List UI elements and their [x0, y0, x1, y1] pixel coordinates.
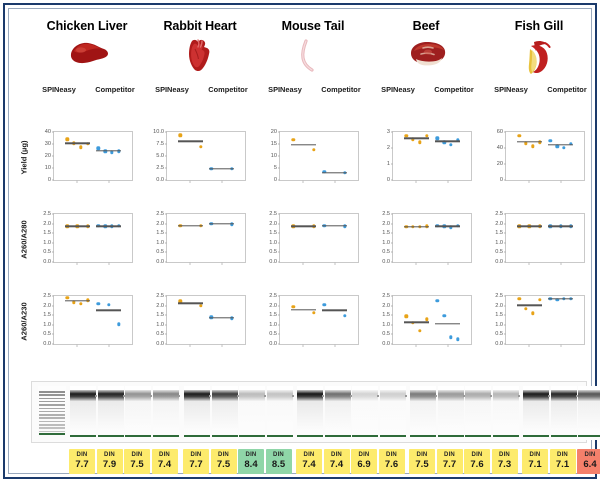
- y-tick-mark: [165, 156, 167, 157]
- y-tick-mark: [165, 223, 167, 224]
- gel-band: [184, 390, 210, 401]
- ladder-band: [39, 404, 65, 406]
- din-badge: DIN6.4: [577, 449, 600, 474]
- data-point: [562, 146, 565, 149]
- gel-lane: [212, 386, 238, 440]
- din-value: 8.5: [266, 460, 292, 470]
- y-tick-label: 0.5: [257, 249, 277, 255]
- y-tick-label: 10: [257, 153, 277, 159]
- gel-band: [267, 390, 293, 401]
- data-point: [179, 134, 182, 137]
- chart-panel-mouse-tail-a260-a280: 0.00.51.01.52.02.5: [257, 211, 361, 273]
- din-badge: DIN8.5: [266, 449, 292, 474]
- gel-lower-marker: [325, 435, 351, 437]
- mean-line: [322, 310, 347, 311]
- gel-lane: [523, 386, 549, 440]
- plot-area: 0.00.51.01.52.02.5: [53, 295, 133, 345]
- y-tick-label: 1.5: [31, 312, 51, 318]
- y-tick-label: 2: [370, 145, 390, 151]
- gel-band: [70, 390, 96, 401]
- gel-band: [153, 390, 179, 401]
- mean-line: [517, 305, 542, 306]
- gel-lane-tick: [178, 395, 180, 397]
- y-tick-label: 0.5: [370, 249, 390, 255]
- y-tick-label: 40: [483, 145, 503, 151]
- y-tick-label: 20: [257, 129, 277, 135]
- y-tick-label: 1.0: [370, 240, 390, 246]
- y-tick-label: 0.0: [31, 259, 51, 265]
- y-tick-label: 10: [31, 165, 51, 171]
- y-tick-mark: [391, 344, 393, 345]
- y-tick-label: 2.0: [483, 221, 503, 227]
- gel-lane-tick: [518, 395, 520, 397]
- group-labels: SPINeasyCompetitor: [483, 85, 595, 94]
- gel-band: [380, 390, 406, 401]
- ladder-lower-marker: [39, 433, 65, 435]
- row-axis-title-2: A260/A280: [20, 209, 29, 271]
- din-label: DIN: [238, 452, 264, 458]
- x-tick-mark: [190, 344, 191, 347]
- din-value: 7.4: [152, 460, 178, 470]
- x-tick-mark: [190, 180, 191, 183]
- y-tick-mark: [391, 132, 393, 133]
- y-tick-mark: [165, 305, 167, 306]
- gel-band: [98, 390, 124, 401]
- y-tick-mark: [504, 233, 506, 234]
- din-label: DIN: [324, 452, 350, 458]
- din-label: DIN: [266, 452, 292, 458]
- x-tick-mark: [334, 262, 335, 265]
- din-badge: DIN7.5: [211, 449, 237, 474]
- y-tick-label: 2.5: [257, 211, 277, 217]
- din-badge: DIN7.1: [550, 449, 576, 474]
- y-tick-label: 2.0: [370, 221, 390, 227]
- plot-area: 0.00.51.01.52.02.5: [53, 213, 133, 263]
- y-tick-mark: [278, 315, 280, 316]
- din-label: DIN: [522, 452, 548, 458]
- y-tick-mark: [504, 252, 506, 253]
- chart-panel-chicken-liver-a260-a280: 0.00.51.01.52.02.5: [31, 211, 135, 273]
- tissue-column-header-4: Beef SPINeasyCompetitor: [370, 19, 482, 94]
- y-tick-label: 0.5: [31, 331, 51, 337]
- data-point: [117, 323, 120, 326]
- x-tick-mark: [221, 344, 222, 347]
- y-tick-mark: [391, 262, 393, 263]
- y-tick-label: 2.0: [144, 303, 164, 309]
- y-tick-label: 0: [257, 177, 277, 183]
- data-point: [549, 139, 552, 142]
- ladder-band: [39, 414, 65, 416]
- y-tick-label: 1.5: [31, 230, 51, 236]
- y-tick-mark: [278, 305, 280, 306]
- din-badge: DIN7.4: [152, 449, 178, 474]
- group-label-spineasy: SPINeasy: [31, 85, 87, 94]
- gel-band: [578, 390, 600, 401]
- y-tick-mark: [278, 168, 280, 169]
- data-point: [418, 329, 421, 332]
- din-badge: DIN7.6: [379, 449, 405, 474]
- y-tick-mark: [165, 262, 167, 263]
- data-point: [443, 314, 446, 317]
- chart-panel-rabbit-heart-yield-g-: 0.02.55.07.510.0: [144, 129, 248, 191]
- tissue-title: Chicken Liver: [31, 19, 143, 33]
- gel-smear: [465, 401, 491, 431]
- gel-smear: [125, 401, 151, 431]
- y-tick-label: 1.0: [31, 322, 51, 328]
- y-tick-label: 20: [483, 161, 503, 167]
- x-tick-mark: [560, 344, 561, 347]
- din-badge: DIN7.4: [324, 449, 350, 474]
- y-tick-mark: [165, 233, 167, 234]
- gel-smear: [184, 401, 210, 431]
- y-tick-label: 1: [370, 161, 390, 167]
- y-tick-mark: [504, 148, 506, 149]
- mean-line: [96, 150, 121, 151]
- y-tick-label: 0: [370, 177, 390, 183]
- y-tick-label: 2.0: [257, 221, 277, 227]
- din-value: 7.5: [409, 460, 435, 470]
- chart-panel-mouse-tail-a260-a230: 0.00.51.01.52.02.5: [257, 293, 361, 355]
- y-tick-mark: [504, 223, 506, 224]
- plot-area: 0.00.51.01.52.02.5: [166, 295, 246, 345]
- row-axis-title-1: Yield (µg): [20, 127, 29, 189]
- y-tick-label: 1.0: [144, 322, 164, 328]
- ladder-band: [39, 391, 65, 393]
- data-point: [425, 318, 428, 321]
- din-label: DIN: [464, 452, 490, 458]
- y-tick-mark: [52, 315, 54, 316]
- din-value: 7.1: [522, 460, 548, 470]
- y-tick-label: 2.5: [31, 211, 51, 217]
- y-tick-mark: [165, 315, 167, 316]
- y-tick-mark: [52, 180, 54, 181]
- y-tick-mark: [52, 334, 54, 335]
- y-tick-mark: [278, 242, 280, 243]
- y-tick-mark: [278, 223, 280, 224]
- chart-panel-rabbit-heart-a260-a230: 0.00.51.01.52.02.5: [144, 293, 248, 355]
- y-tick-label: 0.5: [370, 331, 390, 337]
- x-tick-mark: [108, 262, 109, 265]
- beef-icon: [370, 37, 482, 81]
- y-tick-label: 1.5: [257, 312, 277, 318]
- y-tick-mark: [504, 132, 506, 133]
- gel-band: [438, 390, 464, 401]
- y-tick-mark: [278, 233, 280, 234]
- din-label: DIN: [152, 452, 178, 458]
- y-tick-label: 15: [257, 141, 277, 147]
- gel-lane: [465, 386, 491, 440]
- x-tick-mark: [303, 262, 304, 265]
- y-tick-mark: [391, 324, 393, 325]
- mean-line: [404, 322, 429, 323]
- data-point: [449, 336, 452, 339]
- y-tick-label: 2.5: [144, 211, 164, 217]
- y-tick-label: 2.0: [31, 303, 51, 309]
- y-tick-label: 0.0: [483, 341, 503, 347]
- gel-band: [125, 390, 151, 401]
- mean-line: [178, 140, 203, 141]
- din-label: DIN: [211, 452, 237, 458]
- din-value: 7.1: [550, 460, 576, 470]
- y-tick-mark: [504, 344, 506, 345]
- din-value: 7.3: [492, 460, 518, 470]
- group-label-spineasy: SPINeasy: [370, 85, 426, 94]
- x-tick-mark: [416, 180, 417, 183]
- data-point: [518, 134, 521, 137]
- plot-area: 0.00.51.01.52.02.5: [279, 295, 359, 345]
- din-value: 7.6: [379, 460, 405, 470]
- y-tick-label: 2.0: [144, 221, 164, 227]
- data-point: [79, 145, 82, 148]
- tissue-column-header-5: Fish Gill SPINeasyCompetitor: [483, 19, 595, 94]
- din-label: DIN: [550, 452, 576, 458]
- din-value: 7.7: [69, 460, 95, 470]
- gel-smear: [352, 401, 378, 431]
- mean-line: [291, 309, 316, 310]
- ladder-band: [39, 398, 65, 400]
- plot-area: 0.00.51.01.52.02.5: [505, 295, 585, 345]
- y-tick-mark: [165, 334, 167, 335]
- gel-smear: [267, 401, 293, 431]
- y-tick-mark: [504, 262, 506, 263]
- mean-line: [435, 323, 460, 324]
- gel-lane: [380, 386, 406, 440]
- gel-smear: [380, 401, 406, 431]
- plot-area: 0.00.51.01.52.02.5: [505, 213, 585, 263]
- y-tick-label: 2.5: [483, 293, 503, 299]
- gel-lower-marker: [239, 435, 265, 437]
- ladder-band: [39, 424, 65, 426]
- mean-line: [548, 226, 573, 227]
- y-tick-label: 1.5: [144, 312, 164, 318]
- mean-line: [291, 144, 316, 145]
- y-tick-mark: [504, 296, 506, 297]
- y-tick-mark: [52, 223, 54, 224]
- gel-smear: [493, 401, 519, 431]
- y-tick-label: 7.5: [144, 141, 164, 147]
- mean-line: [209, 317, 234, 318]
- x-tick-mark: [77, 180, 78, 183]
- gel-lane: [551, 386, 577, 440]
- x-tick-mark: [447, 262, 448, 265]
- gel-smear: [153, 401, 179, 431]
- y-tick-mark: [391, 252, 393, 253]
- y-tick-label: 1.0: [144, 240, 164, 246]
- gel-smear: [578, 401, 600, 431]
- chart-panel-fish-gill-yield-g-: 0204060: [483, 129, 587, 191]
- tissue-title: Mouse Tail: [257, 19, 369, 33]
- y-tick-label: 1.0: [483, 240, 503, 246]
- y-tick-label: 2.5: [31, 293, 51, 299]
- din-label: DIN: [492, 452, 518, 458]
- y-tick-label: 1.5: [370, 312, 390, 318]
- x-tick-mark: [416, 262, 417, 265]
- data-point: [405, 314, 408, 317]
- gel-band: [297, 390, 323, 401]
- data-point: [312, 311, 315, 314]
- chart-panel-fish-gill-a260-a230: 0.00.51.01.52.02.5: [483, 293, 587, 355]
- y-tick-label: 5: [257, 165, 277, 171]
- gel-lane: [410, 386, 436, 440]
- din-badge: DIN7.3: [492, 449, 518, 474]
- x-tick-mark: [77, 262, 78, 265]
- gel-lower-marker: [184, 435, 210, 437]
- data-point: [436, 299, 439, 302]
- y-tick-mark: [278, 180, 280, 181]
- y-tick-label: 2.5: [483, 211, 503, 217]
- y-tick-mark: [52, 344, 54, 345]
- y-tick-mark: [165, 242, 167, 243]
- data-point: [343, 314, 346, 317]
- gel-band: [212, 390, 238, 401]
- y-tick-label: 2.5: [370, 293, 390, 299]
- gel-lane-tick: [405, 395, 407, 397]
- y-tick-label: 1.0: [31, 240, 51, 246]
- group-label-spineasy: SPINeasy: [257, 85, 313, 94]
- y-tick-label: 30: [31, 141, 51, 147]
- gel-lane: [267, 386, 293, 440]
- group-labels: SPINeasyCompetitor: [144, 85, 256, 94]
- y-tick-mark: [278, 334, 280, 335]
- mean-line: [65, 226, 90, 227]
- gel-lower-marker: [493, 435, 519, 437]
- din-badge: DIN7.9: [97, 449, 123, 474]
- tissue-title: Fish Gill: [483, 19, 595, 33]
- plot-area: 0.00.51.01.52.02.5: [166, 213, 246, 263]
- mean-line: [65, 143, 90, 144]
- din-label: DIN: [124, 452, 150, 458]
- chart-panel-fish-gill-a260-a280: 0.00.51.01.52.02.5: [483, 211, 587, 273]
- group-labels: SPINeasyCompetitor: [31, 85, 143, 94]
- din-badge: DIN7.6: [464, 449, 490, 474]
- y-tick-label: 0.0: [257, 341, 277, 347]
- y-tick-mark: [391, 233, 393, 234]
- din-label: DIN: [183, 452, 209, 458]
- mean-line: [65, 300, 90, 301]
- y-tick-label: 2.0: [31, 221, 51, 227]
- y-tick-label: 2.5: [257, 293, 277, 299]
- data-point: [323, 303, 326, 306]
- y-tick-label: 0.0: [144, 177, 164, 183]
- y-tick-mark: [52, 132, 54, 133]
- y-tick-mark: [278, 132, 280, 133]
- y-tick-mark: [52, 214, 54, 215]
- y-tick-mark: [391, 305, 393, 306]
- mean-line: [517, 226, 542, 227]
- mean-line: [404, 226, 429, 227]
- gel-ladder-lane: [38, 386, 66, 440]
- ladder-band: [39, 401, 65, 403]
- din-value: 7.5: [211, 460, 237, 470]
- gel-lane: [438, 386, 464, 440]
- gel-lower-marker: [125, 435, 151, 437]
- gel-lower-marker: [380, 435, 406, 437]
- x-tick-mark: [221, 262, 222, 265]
- plot-area: 0.00.51.01.52.02.5: [392, 213, 472, 263]
- gel-lower-marker: [438, 435, 464, 437]
- gel-lower-marker: [70, 435, 96, 437]
- y-tick-mark: [504, 180, 506, 181]
- x-tick-mark: [190, 262, 191, 265]
- gel-band: [523, 390, 549, 401]
- din-badge: DIN7.4: [296, 449, 322, 474]
- y-tick-mark: [52, 144, 54, 145]
- din-badge: DIN7.1: [522, 449, 548, 474]
- gel-lane: [352, 386, 378, 440]
- din-value: 7.9: [97, 460, 123, 470]
- gel-band: [465, 390, 491, 401]
- y-tick-label: 1.5: [257, 230, 277, 236]
- gel-smear: [523, 401, 549, 431]
- x-tick-mark: [447, 180, 448, 183]
- y-tick-mark: [165, 214, 167, 215]
- group-label-competitor: Competitor: [87, 85, 143, 94]
- y-tick-label: 60: [483, 129, 503, 135]
- rabbit-heart-icon: [144, 37, 256, 81]
- y-tick-label: 1.0: [257, 240, 277, 246]
- gel-lane: [239, 386, 265, 440]
- y-tick-label: 0.0: [144, 341, 164, 347]
- x-tick-mark: [529, 344, 530, 347]
- y-tick-mark: [504, 164, 506, 165]
- y-tick-mark: [52, 233, 54, 234]
- data-point: [199, 145, 202, 148]
- x-tick-mark: [108, 180, 109, 183]
- mean-line: [548, 144, 573, 145]
- x-tick-mark: [303, 344, 304, 347]
- mean-line: [517, 141, 542, 142]
- y-tick-mark: [278, 296, 280, 297]
- y-tick-mark: [391, 148, 393, 149]
- chicken-liver-icon: [31, 37, 143, 81]
- data-point: [292, 305, 295, 308]
- data-point: [531, 145, 534, 148]
- gel-smear: [212, 401, 238, 431]
- din-label: DIN: [409, 452, 435, 458]
- gel-lane-tick: [292, 395, 294, 397]
- din-badge: DIN7.5: [124, 449, 150, 474]
- x-tick-mark: [77, 344, 78, 347]
- chart-panel-beef-a260-a230: 0.00.51.01.52.02.5: [370, 293, 474, 355]
- y-tick-mark: [165, 252, 167, 253]
- y-tick-label: 1.5: [483, 312, 503, 318]
- group-label-spineasy: SPINeasy: [483, 85, 539, 94]
- y-tick-label: 10.0: [144, 129, 164, 135]
- ladder-band: [39, 421, 65, 423]
- y-tick-mark: [52, 296, 54, 297]
- din-label: DIN: [379, 452, 405, 458]
- plot-area: 0123: [392, 131, 472, 181]
- ladder-band: [39, 427, 65, 429]
- data-point: [107, 303, 110, 306]
- y-tick-mark: [391, 214, 393, 215]
- gel-smear: [325, 401, 351, 431]
- group-label-spineasy: SPINeasy: [144, 85, 200, 94]
- gel-lane: [153, 386, 179, 440]
- din-value: 7.4: [296, 460, 322, 470]
- mean-line: [435, 226, 460, 227]
- y-tick-label: 0.5: [144, 331, 164, 337]
- y-tick-label: 0.0: [31, 341, 51, 347]
- gel-smear: [551, 401, 577, 431]
- y-tick-mark: [504, 305, 506, 306]
- y-tick-label: 40: [31, 129, 51, 135]
- plot-area: 010203040: [53, 131, 133, 181]
- gel-band: [551, 390, 577, 401]
- y-tick-label: 0.0: [144, 259, 164, 265]
- gel-lane: [184, 386, 210, 440]
- data-point: [456, 337, 459, 340]
